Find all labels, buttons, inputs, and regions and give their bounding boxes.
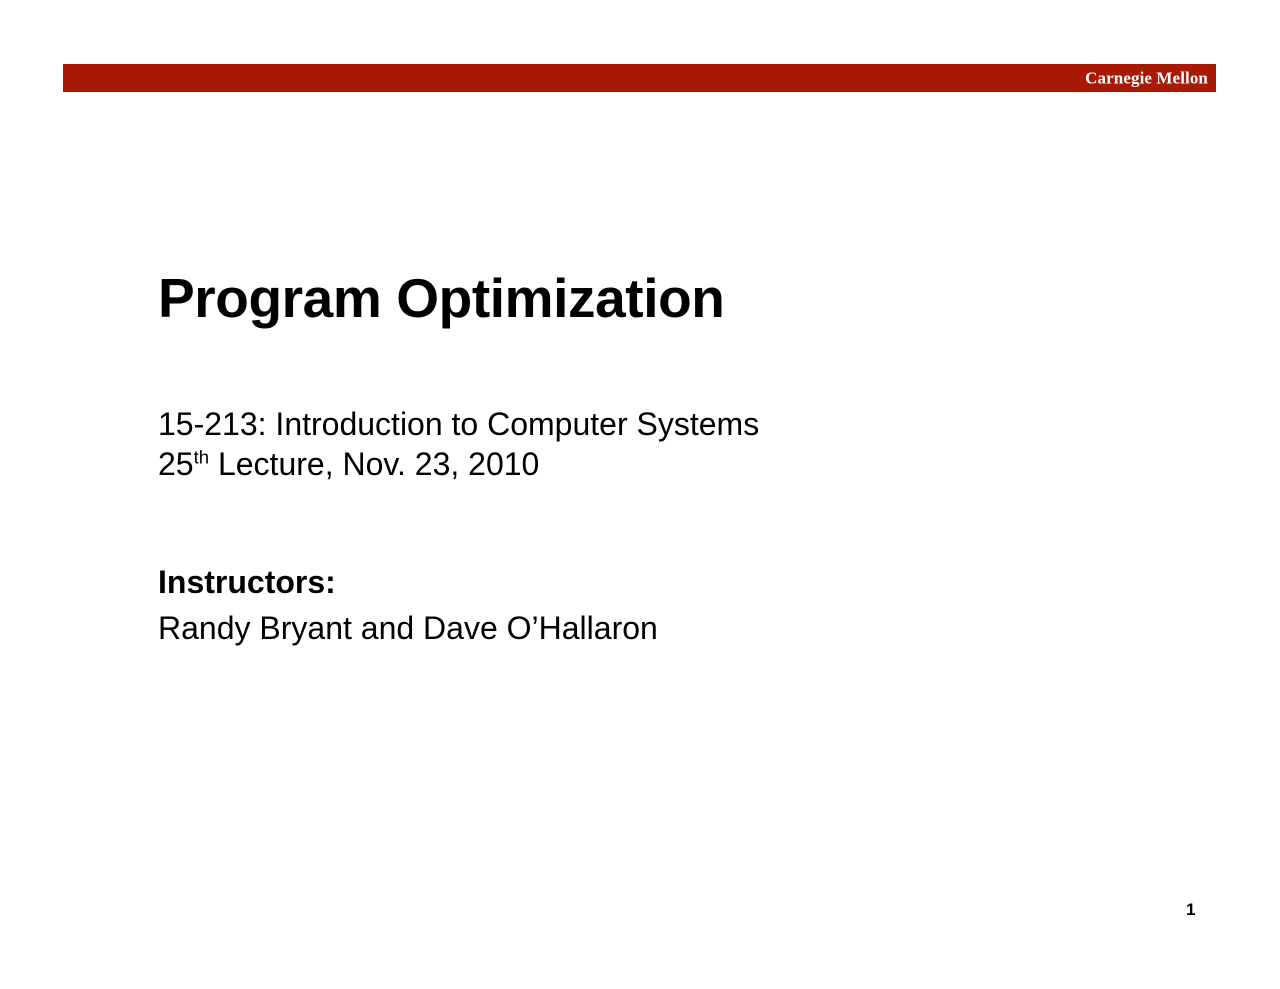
course-subtitle: 15-213: Introduction to Computer Systems bbox=[158, 404, 759, 444]
page-number: 1 bbox=[1186, 901, 1195, 918]
carnegie-mellon-banner-label: Carnegie Mellon bbox=[1085, 70, 1208, 87]
carnegie-mellon-banner: Carnegie Mellon bbox=[63, 64, 1216, 92]
lecture-number: 25 bbox=[158, 446, 194, 482]
instructors-heading: Instructors: bbox=[158, 562, 336, 602]
slide-canvas: Carnegie Mellon Program Optimization 15-… bbox=[0, 0, 1280, 989]
lecture-ordinal-suffix: th bbox=[194, 446, 209, 467]
lecture-subtitle: 25th Lecture, Nov. 23, 2010 bbox=[158, 444, 539, 484]
lecture-date-text: Lecture, Nov. 23, 2010 bbox=[209, 446, 539, 482]
instructors-names: Randy Bryant and Dave O’Hallaron bbox=[158, 608, 658, 648]
slide-title: Program Optimization bbox=[158, 268, 725, 329]
